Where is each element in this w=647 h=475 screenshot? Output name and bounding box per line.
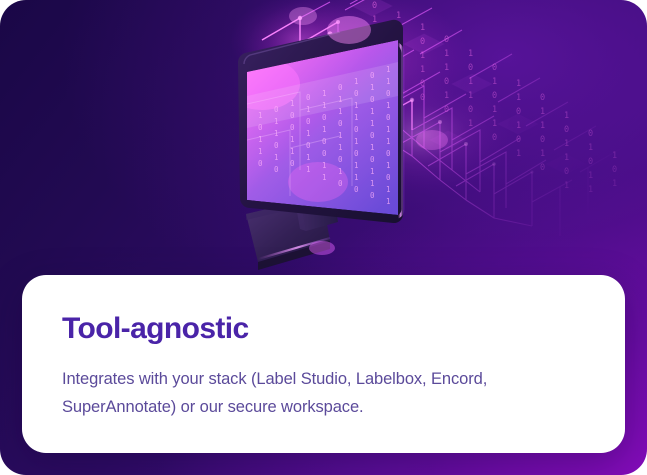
svg-text:1: 1	[290, 99, 295, 108]
svg-text:0: 0	[306, 93, 311, 102]
svg-text:1: 1	[370, 167, 375, 176]
svg-text:0: 0	[386, 173, 391, 182]
svg-text:0: 0	[338, 155, 343, 164]
svg-text:1: 1	[564, 111, 569, 121]
svg-text:0: 0	[492, 133, 497, 143]
svg-text:1: 1	[492, 105, 497, 115]
svg-text:1: 1	[386, 77, 391, 86]
svg-text:1: 1	[396, 11, 401, 21]
svg-text:0: 0	[420, 79, 425, 89]
svg-text:0: 0	[338, 179, 343, 188]
svg-text:0: 0	[354, 125, 359, 134]
svg-text:1: 1	[386, 161, 391, 170]
svg-text:1: 1	[540, 149, 545, 159]
svg-text:1: 1	[322, 89, 327, 98]
svg-text:1: 1	[420, 65, 425, 75]
svg-text:0: 0	[444, 35, 449, 45]
illustration-container: 101 100 011 010 101 101 010 110 110 101 …	[0, 0, 647, 300]
svg-text:1: 1	[516, 93, 521, 103]
svg-text:0: 0	[322, 149, 327, 158]
svg-text:1: 1	[370, 119, 375, 128]
svg-text:0: 0	[540, 93, 545, 103]
svg-text:0: 0	[540, 135, 545, 145]
svg-text:1: 1	[444, 63, 449, 73]
svg-text:0: 0	[468, 105, 473, 115]
svg-text:0: 0	[516, 107, 521, 117]
svg-text:0: 0	[274, 141, 279, 150]
svg-text:1: 1	[386, 125, 391, 134]
svg-text:1: 1	[354, 101, 359, 110]
svg-text:1: 1	[306, 153, 311, 162]
svg-text:1: 1	[420, 23, 425, 33]
svg-text:0: 0	[370, 95, 375, 104]
svg-text:1: 1	[516, 79, 521, 89]
svg-text:1: 1	[564, 153, 569, 163]
svg-text:1: 1	[540, 107, 545, 117]
svg-text:0: 0	[290, 123, 295, 132]
svg-text:0: 0	[306, 141, 311, 150]
svg-text:0: 0	[372, 1, 377, 11]
svg-text:0: 0	[564, 167, 569, 177]
svg-text:1: 1	[322, 161, 327, 170]
svg-text:0: 0	[588, 157, 593, 167]
svg-text:0: 0	[564, 125, 569, 135]
svg-text:0: 0	[354, 185, 359, 194]
svg-text:0: 0	[370, 71, 375, 80]
svg-text:1: 1	[564, 181, 569, 191]
svg-text:1: 1	[322, 173, 327, 182]
svg-text:1: 1	[386, 185, 391, 194]
svg-text:1: 1	[258, 147, 263, 156]
svg-text:0: 0	[420, 37, 425, 47]
svg-text:1: 1	[354, 137, 359, 146]
svg-text:0: 0	[290, 159, 295, 168]
svg-text:1: 1	[338, 167, 343, 176]
svg-text:0: 0	[290, 111, 295, 120]
svg-text:1: 1	[516, 149, 521, 159]
svg-text:1: 1	[338, 131, 343, 140]
svg-text:0: 0	[444, 77, 449, 87]
svg-text:1: 1	[444, 49, 449, 59]
svg-text:0: 0	[540, 163, 545, 173]
svg-text:0: 0	[370, 191, 375, 200]
svg-text:1: 1	[290, 147, 295, 156]
svg-text:0: 0	[612, 165, 617, 175]
svg-text:1: 1	[492, 119, 497, 129]
tool-agnostic-feature-card: 101 100 011 010 101 101 010 110 110 101 …	[0, 0, 647, 475]
card-title: Tool-agnostic	[62, 313, 585, 345]
svg-text:1: 1	[468, 77, 473, 87]
svg-text:1: 1	[588, 185, 593, 195]
svg-text:0: 0	[468, 63, 473, 73]
svg-text:1: 1	[588, 143, 593, 153]
svg-text:1: 1	[338, 143, 343, 152]
svg-text:1: 1	[564, 139, 569, 149]
svg-text:0: 0	[386, 149, 391, 158]
svg-text:1: 1	[468, 119, 473, 129]
svg-text:1: 1	[338, 95, 343, 104]
svg-text:1: 1	[354, 173, 359, 182]
svg-text:1: 1	[354, 77, 359, 86]
svg-text:1: 1	[370, 107, 375, 116]
svg-text:0: 0	[354, 149, 359, 158]
svg-text:0: 0	[420, 93, 425, 103]
svg-text:1: 1	[370, 83, 375, 92]
svg-text:0: 0	[370, 131, 375, 140]
svg-text:1: 1	[354, 113, 359, 122]
svg-text:1: 1	[370, 179, 375, 188]
svg-text:0: 0	[492, 91, 497, 101]
svg-text:1: 1	[274, 117, 279, 126]
svg-text:1: 1	[354, 161, 359, 170]
svg-text:1: 1	[588, 171, 593, 181]
svg-text:0: 0	[322, 113, 327, 122]
svg-text:1: 1	[370, 143, 375, 152]
svg-text:0: 0	[516, 135, 521, 145]
svg-text:1: 1	[468, 49, 473, 59]
feature-text-card: Tool-agnostic Integrates with your stack…	[22, 275, 625, 453]
svg-text:1: 1	[516, 121, 521, 131]
svg-text:0: 0	[354, 89, 359, 98]
svg-text:1: 1	[386, 137, 391, 146]
svg-text:0: 0	[370, 155, 375, 164]
svg-text:0: 0	[338, 83, 343, 92]
svg-text:1: 1	[386, 101, 391, 110]
card-description: Integrates with your stack (Label Studio…	[62, 365, 582, 422]
svg-text:1: 1	[612, 151, 617, 161]
svg-text:0: 0	[258, 159, 263, 168]
svg-text:1: 1	[322, 125, 327, 134]
svg-text:0: 0	[588, 129, 593, 139]
svg-text:1: 1	[322, 101, 327, 110]
svg-text:0: 0	[322, 137, 327, 146]
svg-text:1: 1	[386, 65, 391, 74]
svg-text:1: 1	[540, 121, 545, 131]
svg-text:0: 0	[274, 165, 279, 174]
svg-text:1: 1	[258, 111, 263, 120]
svg-text:0: 0	[492, 63, 497, 73]
svg-text:0: 0	[338, 119, 343, 128]
svg-text:1: 1	[274, 153, 279, 162]
svg-text:0: 0	[306, 117, 311, 126]
svg-text:1: 1	[468, 91, 473, 101]
svg-text:0: 0	[444, 105, 449, 115]
svg-text:1: 1	[492, 77, 497, 87]
svg-text:1: 1	[306, 129, 311, 138]
svg-text:1: 1	[290, 135, 295, 144]
svg-text:0: 0	[386, 113, 391, 122]
isometric-monitor-illustration: 101 100 011 010 101 101 010 110 110 101 …	[0, 0, 647, 300]
svg-text:1: 1	[306, 165, 311, 174]
svg-text:1: 1	[338, 107, 343, 116]
svg-text:0: 0	[274, 105, 279, 114]
svg-text:1: 1	[372, 15, 377, 25]
svg-text:1: 1	[420, 51, 425, 61]
svg-text:1: 1	[306, 105, 311, 114]
svg-text:1: 1	[386, 197, 391, 206]
svg-text:1: 1	[444, 91, 449, 101]
svg-text:0: 0	[386, 89, 391, 98]
svg-text:0: 0	[258, 123, 263, 132]
svg-text:1: 1	[612, 179, 617, 189]
